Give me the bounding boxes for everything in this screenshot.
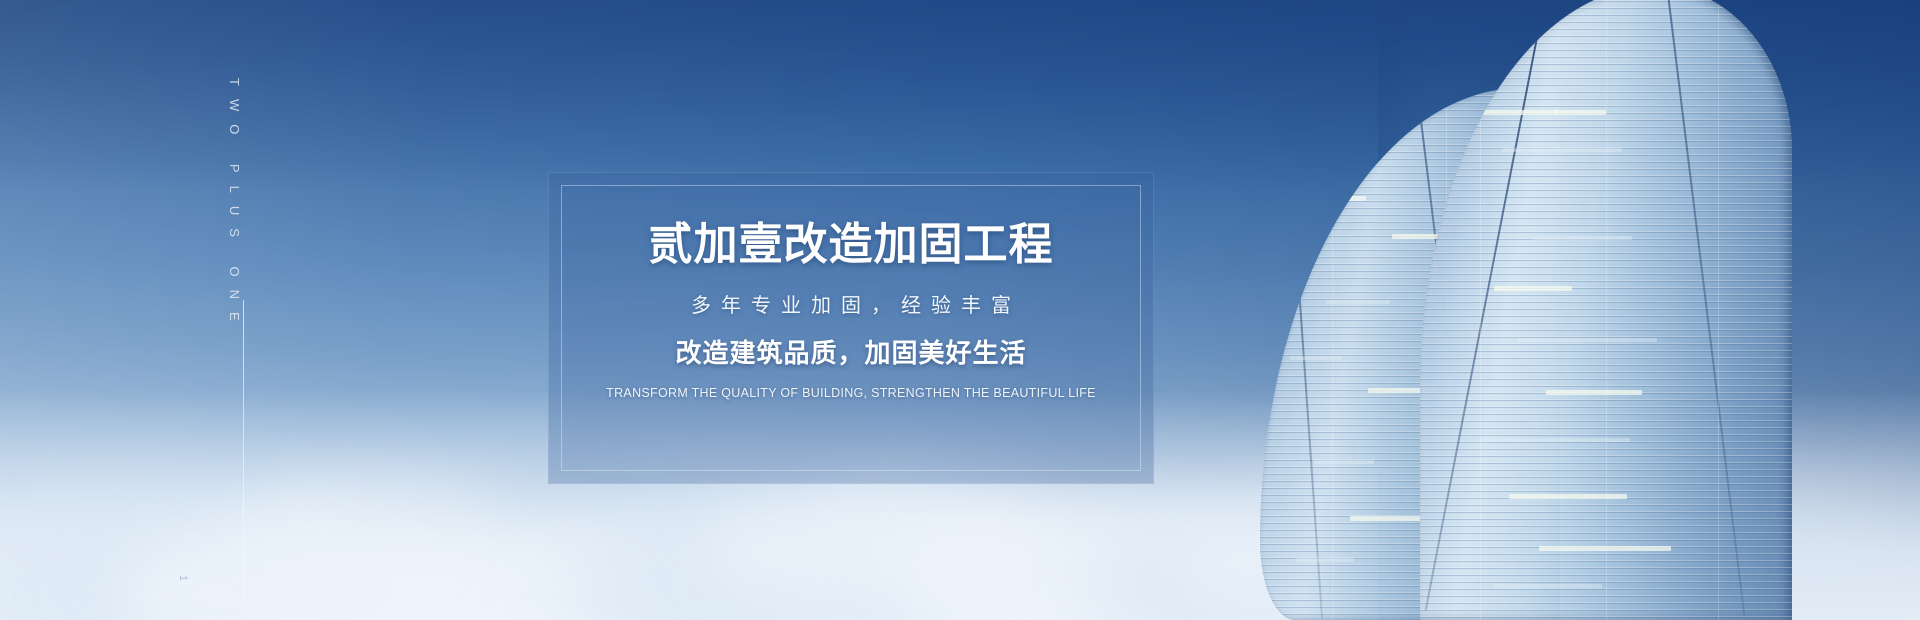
tower-mullion xyxy=(1332,88,1333,620)
tower-mullion xyxy=(1718,0,1719,620)
window-light xyxy=(1308,196,1366,201)
window-light xyxy=(1296,558,1354,562)
window-light xyxy=(1326,300,1390,304)
hero-text-panel: 贰加壹改造加固工程 多年专业加固，经验丰富 改造建筑品质，加固美好生活 TRAN… xyxy=(548,172,1154,484)
window-light xyxy=(1494,286,1572,291)
skyscraper-right xyxy=(1420,0,1792,620)
window-light xyxy=(1480,438,1630,442)
brand-vertical-wordmark: TWO PLUS ONE xyxy=(228,78,248,334)
window-light xyxy=(1290,356,1342,360)
window-light xyxy=(1350,516,1424,521)
window-light xyxy=(1494,584,1602,588)
window-light xyxy=(1472,110,1558,115)
window-light xyxy=(1539,546,1671,551)
window-light xyxy=(1314,460,1374,464)
hero-subtitle: 多年专业加固，经验丰富 xyxy=(549,293,1153,317)
tower-mullion xyxy=(1480,0,1481,620)
tower-mullion xyxy=(1606,0,1607,620)
hero-text-content: 贰加壹改造加固工程 多年专业加固，经验丰富 改造建筑品质，加固美好生活 TRAN… xyxy=(549,221,1153,401)
brand-vertical-label: TWO PLUS ONE xyxy=(228,78,241,334)
hero-banner: TWO PLUS ONE 1 贰加壹改造加固工程 多年专业加固，经验丰富 改造建… xyxy=(0,0,1920,620)
page-title: 贰加壹改造加固工程 xyxy=(549,221,1153,269)
cloud-shape xyxy=(240,470,500,560)
window-light xyxy=(1554,110,1606,115)
hero-english-caption: TRANSFORM THE QUALITY OF BUILDING, STREN… xyxy=(549,385,1153,401)
window-light xyxy=(1532,236,1632,240)
hero-tagline: 改造建筑品质，加固美好生活 xyxy=(549,339,1153,370)
skyscraper-group xyxy=(1260,0,1920,620)
window-light xyxy=(1502,148,1622,152)
brand-corner-mark: 1 xyxy=(177,575,189,581)
window-light xyxy=(1546,390,1642,395)
window-light xyxy=(1517,338,1657,342)
brand-vertical-rule xyxy=(243,300,244,600)
window-light xyxy=(1509,494,1627,499)
